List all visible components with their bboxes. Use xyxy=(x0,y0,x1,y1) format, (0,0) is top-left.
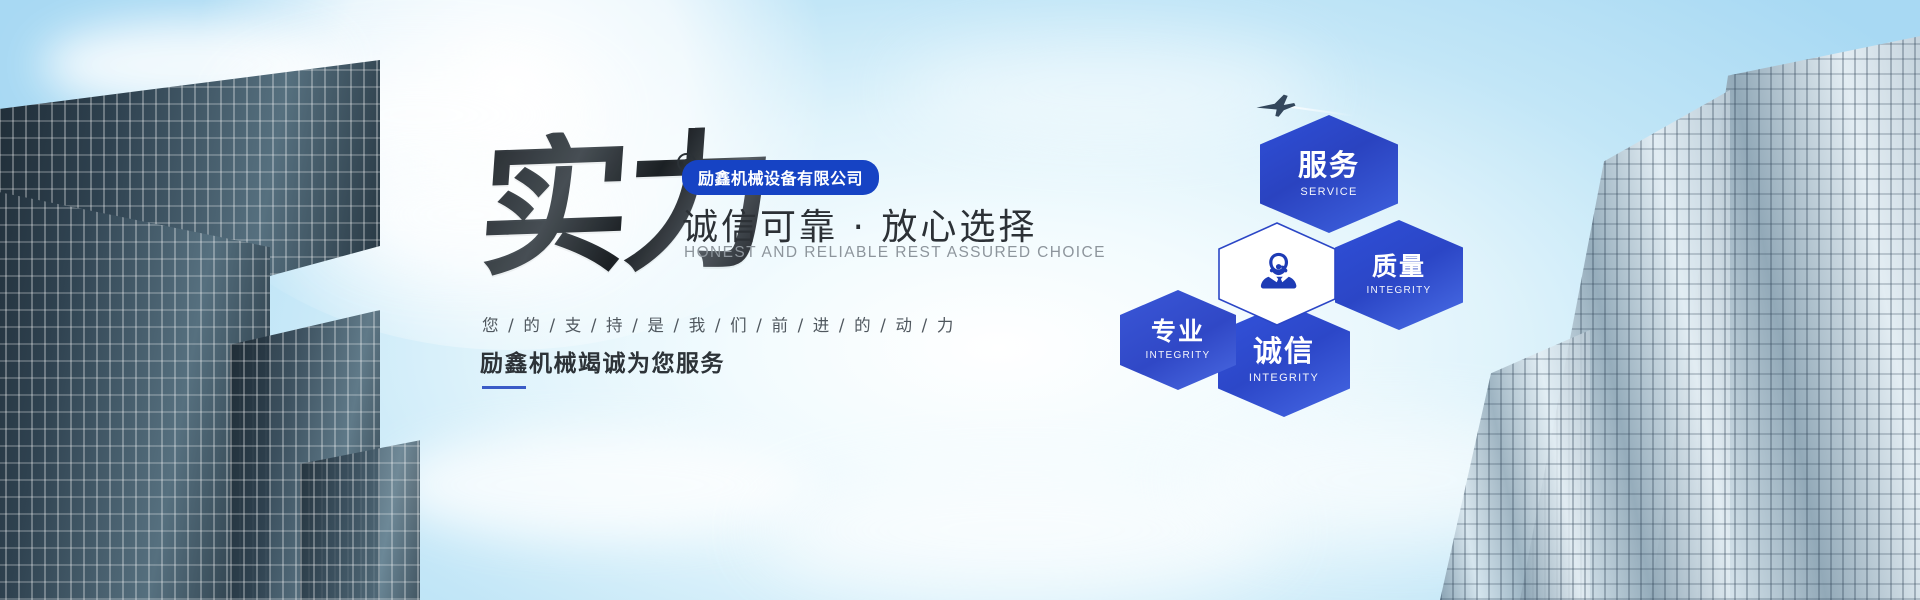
cloud-decoration xyxy=(390,430,810,540)
hexagon-badge-service[interactable]: 服务 SERVICE xyxy=(1260,115,1398,233)
hexagon-badge-group: 服务 SERVICE 质量 INTEGRITY 诚信 INTEGRITY 专业 … xyxy=(1110,115,1530,515)
hexagon-label-en: INTEGRITY xyxy=(1145,350,1210,361)
headline-block: 实力 励鑫机械设备有限公司 诚信可靠 · 放心选择 HONEST AND REL… xyxy=(470,120,1030,410)
hexagon-badge-quality[interactable]: 质量 INTEGRITY xyxy=(1335,220,1463,330)
hexagon-badge-customer-service[interactable] xyxy=(1216,221,1338,327)
hexagon-label-cn: 质量 xyxy=(1372,254,1426,280)
hexagon-label-cn: 诚信 xyxy=(1253,336,1315,366)
slogan-line-1: 您 / 的 / 支 / 持 / 是 / 我 / 们 / 前 / 进 / 的 / … xyxy=(482,312,956,336)
tagline-en: HONEST AND RELIABLE REST ASSURED CHOICE xyxy=(684,244,1106,262)
hexagon-label-en: SERVICE xyxy=(1300,186,1357,198)
slogan-line-2: 励鑫机械竭诚为您服务 xyxy=(480,344,725,378)
accent-rule xyxy=(482,386,526,389)
tagline-cn: 诚信可靠 · 放心选择 xyxy=(682,198,1037,250)
left-building-cluster xyxy=(0,60,430,600)
hero-banner: 实力 励鑫机械设备有限公司 诚信可靠 · 放心选择 HONEST AND REL… xyxy=(0,0,1920,600)
hexagon-label-cn: 专业 xyxy=(1151,319,1205,345)
hexagon-label-en: INTEGRITY xyxy=(1366,285,1431,296)
company-badge: 励鑫机械设备有限公司 xyxy=(682,160,879,195)
building-windows xyxy=(0,180,270,600)
hexagon-label-en: INTEGRITY xyxy=(1249,372,1319,384)
hexagon-label-cn: 服务 xyxy=(1298,150,1360,180)
